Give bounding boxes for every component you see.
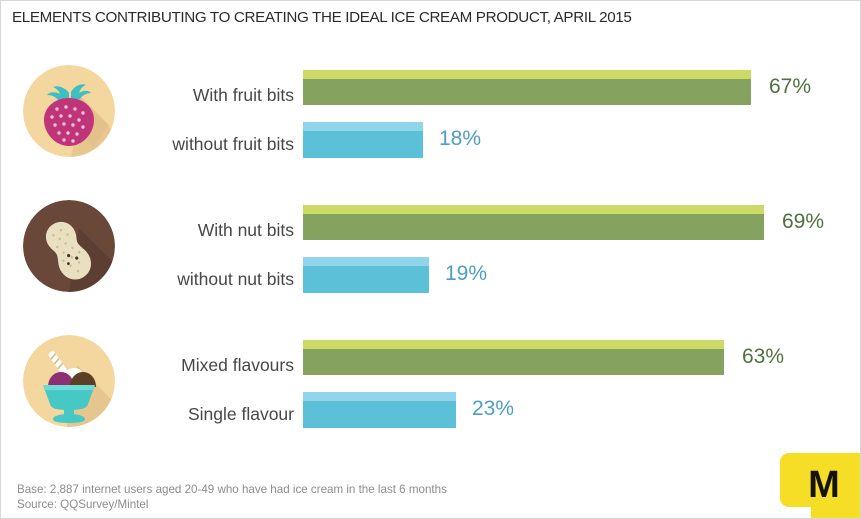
bar-label-without-fruit-bits: without fruit bits xyxy=(0,134,294,155)
bar-value-without-fruit-bits: 18% xyxy=(439,127,481,151)
bar-label-without-nut-bits: without nut bits xyxy=(0,269,294,290)
bar-body xyxy=(303,401,456,428)
mintel-logo: M xyxy=(761,453,861,519)
bar-cap xyxy=(303,392,456,401)
infographic-page: ELEMENTS CONTRIBUTING TO CREATING THE ID… xyxy=(0,0,861,519)
bar-single-flavour xyxy=(303,392,456,428)
bar-cap xyxy=(303,257,429,266)
bar-value-mixed-flavours: 63% xyxy=(742,345,784,369)
bar-with-fruit-bits xyxy=(303,70,751,105)
footer-base: Base: 2,887 internet users aged 20-49 wh… xyxy=(17,482,447,497)
bar-label-with-nut-bits: With nut bits xyxy=(0,220,294,241)
bar-without-nut-bits xyxy=(303,257,429,293)
bar-label-with-fruit-bits: With fruit bits xyxy=(0,85,294,106)
mintel-logo-letter: M xyxy=(808,464,840,506)
bar-body xyxy=(303,214,764,240)
bar-cap xyxy=(303,122,423,131)
bar-body xyxy=(303,131,423,158)
bar-label-single-flavour: Single flavour xyxy=(0,404,294,425)
chart-group-fruit: With fruit bits without fruit bits 67% 1… xyxy=(1,59,861,179)
bar-value-single-flavour: 23% xyxy=(472,397,514,421)
footer-source: Source: QQSurvey/Mintel xyxy=(17,497,447,512)
footer-notes: Base: 2,887 internet users aged 20-49 wh… xyxy=(17,482,447,512)
bar-label-mixed-flavours: Mixed flavours xyxy=(0,355,294,376)
bar-without-fruit-bits xyxy=(303,122,423,158)
page-title: ELEMENTS CONTRIBUTING TO CREATING THE ID… xyxy=(12,9,812,26)
bar-with-nut-bits xyxy=(303,205,764,240)
chart-group-flavour: Mixed flavours Single flavour 63% 23% xyxy=(1,329,861,449)
mintel-logo-graphic: M xyxy=(761,453,861,519)
bar-cap xyxy=(303,205,764,214)
bar-body xyxy=(303,79,751,105)
bar-value-with-nut-bits: 69% xyxy=(782,210,824,234)
bar-cap xyxy=(303,70,751,79)
bar-value-without-nut-bits: 19% xyxy=(445,262,487,286)
bar-cap xyxy=(303,340,724,349)
bar-mixed-flavours xyxy=(303,340,724,375)
chart-group-nut: With nut bits without nut bits 69% 19% xyxy=(1,194,861,314)
bar-body xyxy=(303,266,429,293)
bar-body xyxy=(303,349,724,375)
bar-value-with-fruit-bits: 67% xyxy=(769,75,811,99)
